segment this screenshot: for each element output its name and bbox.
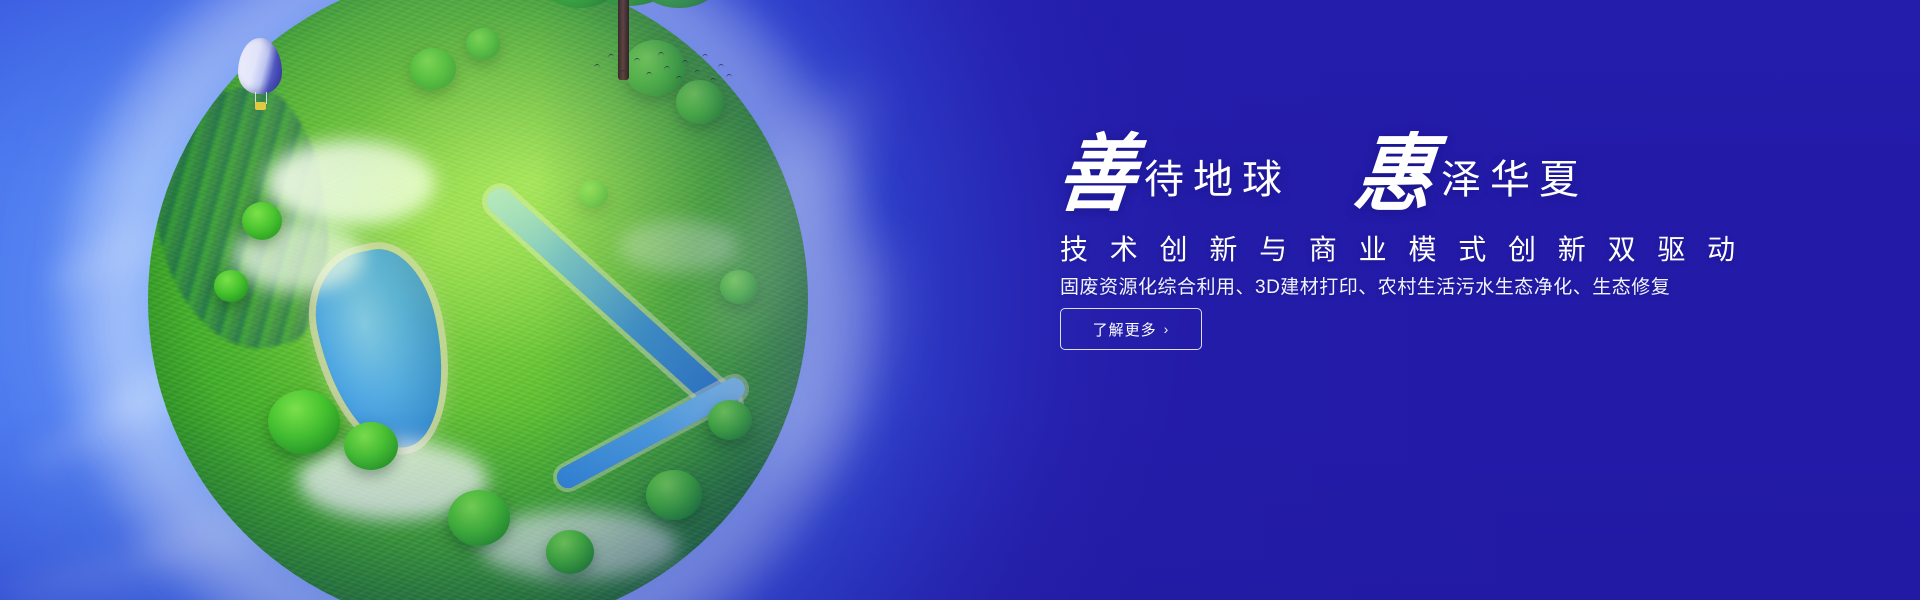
hero-banner: 善 待地球 惠 泽华夏 技 术 创 新 与 商 业 模 式 创 新 双 驱 动 …: [0, 0, 1920, 600]
chevron-right-icon: ›: [1164, 322, 1170, 336]
headline-brush-char-1: 善: [1054, 135, 1144, 215]
headline-rest-1: 待地球: [1140, 160, 1291, 212]
hero-headline: 善 待地球 惠 泽华夏: [1058, 138, 1588, 212]
learn-more-label: 了解更多: [1093, 319, 1157, 340]
hero-description: 固废资源化综合利用、3D建材打印、农村生活污水生态净化、生态修复: [1060, 272, 1670, 299]
headline-brush-char-2: 惠: [1351, 135, 1441, 215]
learn-more-button[interactable]: 了解更多 ›: [1060, 308, 1202, 350]
headline-rest-2: 泽华夏: [1437, 160, 1588, 212]
hero-subtitle: 技 术 创 新 与 商 业 模 式 创 新 双 驱 动: [1060, 228, 1742, 268]
hero-content: 善 待地球 惠 泽华夏 技 术 创 新 与 商 业 模 式 创 新 双 驱 动 …: [1058, 0, 1878, 600]
